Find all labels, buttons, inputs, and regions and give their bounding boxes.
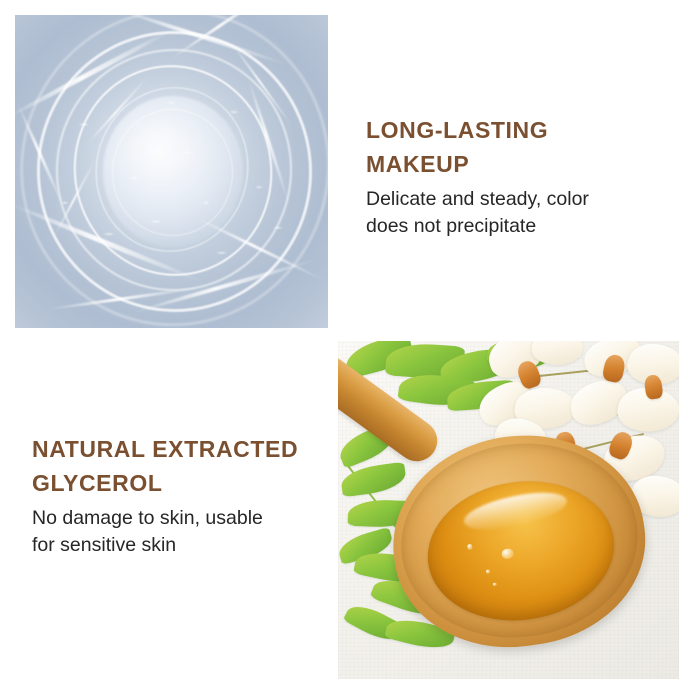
feature-text-natural-extracted-glycerol: NATURAL EXTRACTED GLYCEROL No damage to …: [32, 432, 332, 560]
feature-description: Delicate and steady, color does not prec…: [366, 186, 666, 241]
feature-title: LONG-LASTING MAKEUP: [366, 113, 666, 181]
water-sparkle-overlay: [15, 15, 328, 328]
honey-bubble: [466, 544, 472, 550]
honey-bubble: [501, 548, 513, 559]
honey-spoon-photo: [338, 341, 679, 679]
product-feature-panel: LONG-LASTING MAKEUP Delicate and steady,…: [0, 0, 679, 679]
water-ripple-photo: [15, 15, 328, 328]
honey-bubble: [493, 582, 497, 586]
honey-highlight: [460, 485, 569, 536]
feature-text-long-lasting-makeup: LONG-LASTING MAKEUP Delicate and steady,…: [366, 113, 666, 241]
honey-bubble: [485, 569, 490, 574]
feature-description: No damage to skin, usable for sensitive …: [32, 505, 332, 560]
feature-title: NATURAL EXTRACTED GLYCEROL: [32, 432, 332, 500]
